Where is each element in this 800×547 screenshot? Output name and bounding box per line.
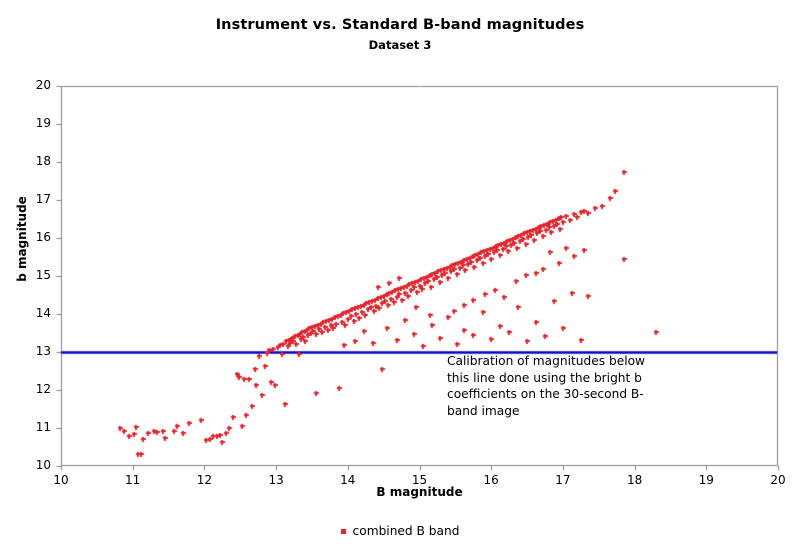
x-tick-17: 17 — [543, 473, 583, 487]
x-tick-19: 19 — [686, 473, 726, 487]
y-tick-11: 11 — [21, 420, 51, 434]
y-tick-20: 20 — [21, 78, 51, 92]
x-tick-12: 12 — [184, 473, 224, 487]
x-tick-16: 16 — [471, 473, 511, 487]
x-tick-10: 10 — [41, 473, 81, 487]
y-tick-18: 18 — [21, 154, 51, 168]
chart-container: Instrument vs. Standard B-band magnitude… — [0, 0, 800, 547]
y-tick-10: 10 — [21, 458, 51, 472]
scatter-plot-canvas — [0, 0, 800, 547]
y-tick-12: 12 — [21, 382, 51, 396]
x-tick-18: 18 — [615, 473, 655, 487]
x-tick-13: 13 — [256, 473, 296, 487]
y-tick-14: 14 — [21, 306, 51, 320]
y-tick-19: 19 — [21, 116, 51, 130]
x-tick-20: 20 — [758, 473, 798, 487]
y-tick-16: 16 — [21, 230, 51, 244]
y-tick-17: 17 — [21, 192, 51, 206]
calibration-annotation: Calibration of magnitudes below this lin… — [447, 353, 652, 419]
legend-series-label: combined B band — [353, 524, 460, 538]
y-tick-13: 13 — [21, 344, 51, 358]
x-axis-label: B magnitude — [61, 485, 778, 499]
chart-legend: combined B band — [0, 524, 800, 538]
x-tick-14: 14 — [328, 473, 368, 487]
legend-marker-icon — [341, 529, 346, 534]
x-tick-15: 15 — [400, 473, 440, 487]
y-tick-15: 15 — [21, 268, 51, 282]
x-tick-11: 11 — [113, 473, 153, 487]
